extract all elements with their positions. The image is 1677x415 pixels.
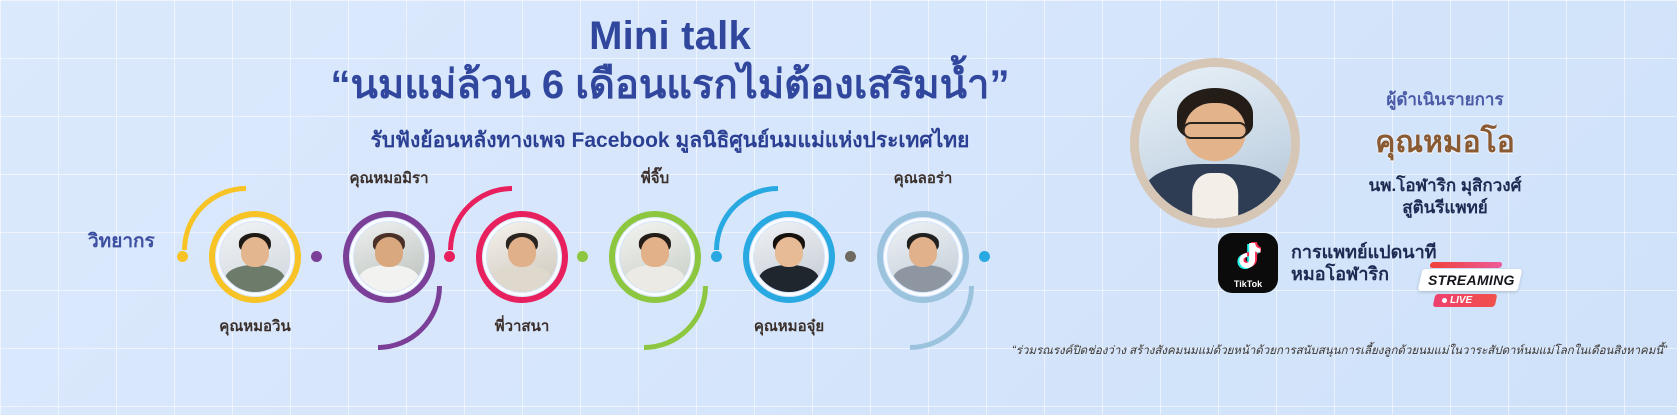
- footer-note: “ร่วมรณรงค์ปิดช่องว่าง สร้างสังคมนมแม่ด้…: [845, 342, 1667, 360]
- connector-dot-6: [845, 251, 856, 262]
- tiktok-icon[interactable]: TikTok: [1218, 233, 1278, 293]
- speaker-photo-6: [888, 222, 958, 292]
- live-badge-inner: LIVE: [1442, 295, 1488, 306]
- glasses-icon: [1183, 122, 1248, 140]
- host-detail-line-1: นพ.โอฬาริก มุสิกวงศ์: [1315, 175, 1575, 197]
- speaker-avatar-3[interactable]: [476, 211, 568, 303]
- tiktok-channel-line-2: หมอโอฬาริก: [1291, 263, 1437, 286]
- host-photo-shirt: [1192, 173, 1238, 225]
- tiktok-logo-label: TikTok: [1218, 279, 1278, 289]
- host-detail-line-2: สูตินรีแพทย์: [1315, 197, 1575, 219]
- speaker-name-2: คุณหมอมิรา: [309, 166, 469, 190]
- host-avatar[interactable]: [1130, 58, 1300, 228]
- headline-subtitle: รับฟังย้อนหลังทางเพจ Facebook มูลนิธิศูน…: [180, 124, 1160, 157]
- tiktok-channel-line-1: การแพทย์แปดนาที: [1291, 241, 1437, 264]
- speaker-name-6: คุณลอร่า: [843, 166, 1003, 190]
- speaker-avatar-1[interactable]: [209, 211, 301, 303]
- headline-block: Mini talk “นมแม่ล้วน 6 เดือนแรกไม่ต้องเส…: [180, 14, 1160, 157]
- tiktok-block[interactable]: TikTok การแพทย์แปดนาที หมอโอฬาริก: [1218, 233, 1437, 293]
- tiktok-channel-text: การแพทย์แปดนาที หมอโอฬาริก: [1291, 241, 1437, 286]
- headline-quote: “นมแม่ล้วน 6 เดือนแรกไม่ต้องเสริมน้ำ”: [180, 60, 1160, 110]
- promo-banner: Mini talk “นมแม่ล้วน 6 เดือนแรกไม่ต้องเส…: [0, 0, 1677, 415]
- streaming-accent-bar: [1429, 262, 1502, 268]
- streaming-label-box: STREAMING: [1418, 269, 1523, 291]
- live-dot-icon: [1442, 298, 1447, 303]
- connector-dot-2: [311, 251, 322, 262]
- speakers-label: วิทยากร: [88, 226, 155, 256]
- speakers-row: วิทยากร คุณหมอวิน: [0, 178, 1060, 343]
- speaker-photo-2: [354, 222, 424, 292]
- speaker-avatar-4[interactable]: [609, 211, 701, 303]
- live-label: LIVE: [1450, 295, 1472, 306]
- streaming-badge: STREAMING LIVE: [1420, 262, 1520, 307]
- speaker-name-5: คุณหมอจุ๋ย: [709, 314, 869, 338]
- tiktok-note-glyph: [1235, 242, 1261, 272]
- host-role: ผู้ดำเนินรายการ: [1315, 86, 1575, 113]
- speaker-avatar-6[interactable]: [877, 211, 969, 303]
- host-name: คุณหมอโอ: [1315, 119, 1575, 166]
- speaker-photo-4: [620, 222, 690, 292]
- host-detail: นพ.โอฬาริก มุสิกวงศ์ สูตินรีแพทย์: [1315, 175, 1575, 219]
- host-text-block: ผู้ดำเนินรายการ คุณหมอโอ นพ.โอฬาริก มุสิ…: [1315, 86, 1575, 219]
- page-title: Mini talk: [180, 14, 1160, 58]
- live-badge: LIVE: [1433, 294, 1498, 307]
- connector-dot-1: [177, 251, 188, 262]
- connector-dot-3: [444, 251, 455, 262]
- speaker-avatar-2[interactable]: [343, 211, 435, 303]
- connector-dot-4: [577, 251, 588, 262]
- connector-dot-7: [979, 251, 990, 262]
- speaker-name-4: พี่จิ๊บ: [575, 166, 735, 190]
- streaming-label: STREAMING: [1428, 272, 1512, 288]
- speaker-photo-3: [487, 222, 557, 292]
- speaker-avatar-5[interactable]: [743, 211, 835, 303]
- speaker-name-3: พี่วาสนา: [442, 314, 602, 338]
- speaker-name-1: คุณหมอวิน: [175, 314, 335, 338]
- connector-dot-5: [711, 251, 722, 262]
- speaker-photo-5: [754, 222, 824, 292]
- speaker-photo-1: [220, 222, 290, 292]
